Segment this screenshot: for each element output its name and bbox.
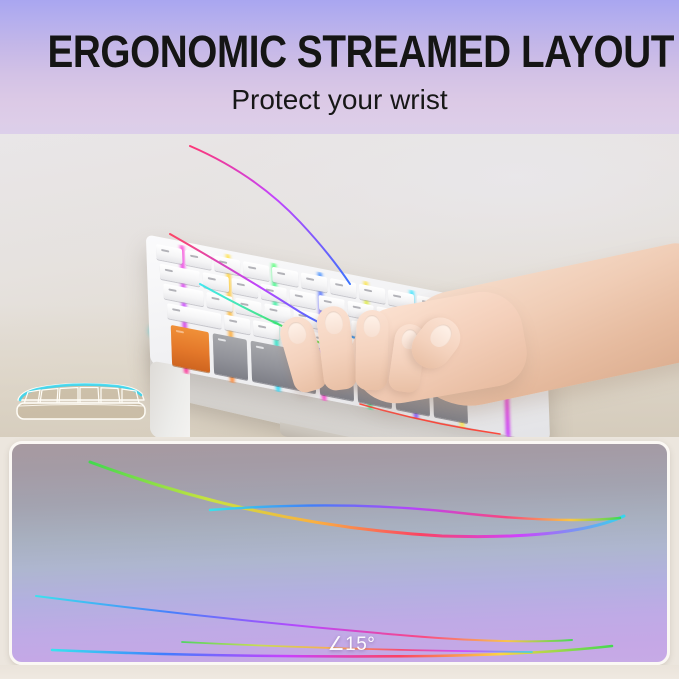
page-title: ERGONOMIC STREAMED LAYOUT bbox=[48, 27, 632, 77]
keycap[interactable] bbox=[214, 255, 241, 275]
keycap[interactable] bbox=[232, 278, 259, 298]
keyboard-profile-sketch-icon bbox=[10, 370, 150, 428]
keycap[interactable] bbox=[203, 272, 230, 292]
keycap-accent-escape[interactable] bbox=[171, 325, 210, 373]
product-infographic-page: ERGONOMIC STREAMED LAYOUT Protect your w… bbox=[0, 0, 679, 679]
keycap[interactable] bbox=[301, 272, 328, 292]
keycap[interactable] bbox=[156, 244, 183, 264]
fingernail bbox=[324, 310, 345, 335]
keycap[interactable] bbox=[330, 278, 357, 298]
header-banner: ERGONOMIC STREAMED LAYOUT Protect your w… bbox=[0, 0, 679, 134]
fingernail bbox=[426, 320, 456, 351]
fingernail bbox=[363, 315, 380, 337]
keycap[interactable] bbox=[261, 283, 288, 303]
keycap[interactable] bbox=[243, 261, 270, 281]
hero-keyboard-photo bbox=[0, 134, 679, 437]
keycap[interactable] bbox=[359, 284, 386, 304]
ring-finger bbox=[355, 310, 388, 391]
page-bottom-strip bbox=[0, 665, 679, 679]
keycap[interactable] bbox=[290, 289, 317, 309]
angle-badge: ∠15° bbox=[12, 633, 670, 656]
angle-demo-card-inner bbox=[12, 444, 667, 662]
fingernail bbox=[285, 320, 308, 346]
page-subtitle: Protect your wrist bbox=[0, 83, 679, 117]
card-rgb-streaks bbox=[12, 444, 667, 662]
angle-demo-card: ∠15° bbox=[9, 441, 670, 665]
keycap-left-alt[interactable] bbox=[213, 333, 248, 380]
keycap[interactable] bbox=[235, 298, 262, 318]
keycap[interactable] bbox=[185, 250, 212, 270]
